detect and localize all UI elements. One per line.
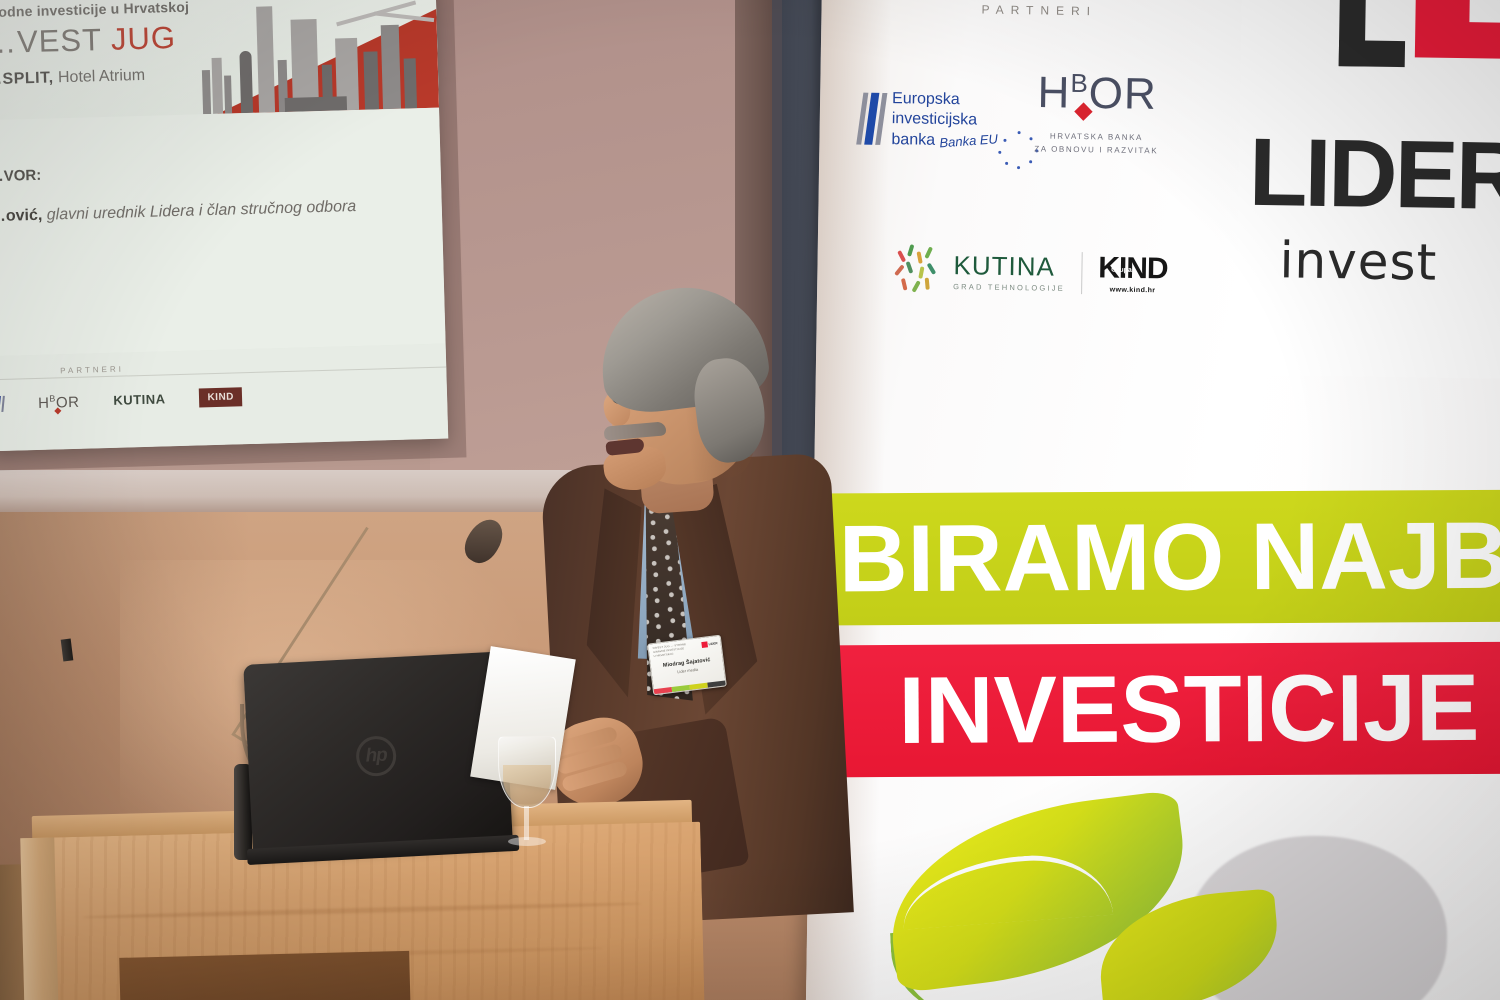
logo-divider — [1081, 252, 1083, 294]
slide-speaker-line: …ović, glavni urednik Lidera i član stru… — [0, 198, 356, 226]
hbor-sub-2: ZA OBNOVU I RAZVITAK — [1034, 143, 1158, 159]
banner-headline-red: INVESTICIJE — [806, 642, 1500, 778]
wine-glass — [498, 736, 556, 850]
kutina-subtitle: GRAD TEHNOLOGIJE — [953, 283, 1065, 292]
slide-partner-logos: HBOR KUTINA KIND — [0, 382, 447, 414]
slide-hbor-icon: HBOR — [38, 392, 80, 411]
slide-title: …VEST JUG — [0, 20, 244, 58]
banner-headline-green: BIRAMO NAJBOLJ — [806, 490, 1500, 626]
glass-water — [503, 765, 551, 805]
eib-line-3-text: banka — [891, 131, 935, 149]
kutina-name: KUTINA — [953, 252, 1065, 280]
hbor-or: OR — [1088, 69, 1157, 119]
photo-canvas: …odne investicije u Hrvatskoj …VEST JUG … — [0, 0, 1500, 1000]
slide-kind-icon: KIND — [199, 387, 242, 407]
projection-screen: …odne investicije u Hrvatskoj …VEST JUG … — [0, 0, 448, 451]
kutina-text: KUTINA GRAD TEHNOLOGIJE — [953, 252, 1065, 292]
slide-speaker-name: …ović, — [0, 207, 43, 225]
hp-logo-icon: hp — [355, 735, 397, 777]
slide-title-area: …odne investicije u Hrvatskoj …VEST JUG … — [0, 0, 245, 88]
hbor-h: H — [1037, 68, 1071, 118]
slide-speaker-role: glavni urednik Lidera i član stručnog od… — [42, 198, 356, 224]
laptop-lid: hp — [243, 651, 513, 854]
eib-line-1: Europska — [892, 89, 998, 111]
kind-inner-text: Grupa — [1111, 267, 1132, 274]
banner-partners-heading: PARTNERI — [981, 3, 1097, 19]
kind-logo: KIND Grupa www.kind.hr — [1098, 253, 1168, 294]
slide-title-right: JUG — [111, 20, 177, 57]
banner-headline-line-1: BIRAMO NAJBOLJ — [806, 507, 1500, 607]
badge-lider-square-icon — [701, 641, 708, 648]
laptop: hp — [243, 651, 513, 854]
wood-grain-line-1 — [82, 901, 642, 920]
slide-location-venue: Hotel Atrium — [53, 67, 145, 87]
kutina-kind-logo-group: KUTINA GRAD TEHNOLOGIJE KIND Grupa www.k… — [895, 244, 1168, 300]
kind-url: www.kind.hr — [1098, 286, 1167, 294]
lider-red-square-icon — [1415, 0, 1500, 59]
eib-line-2: investicijska — [892, 110, 998, 132]
lider-tagline: invest — [1279, 235, 1437, 287]
lectern-inner-shelf — [119, 951, 410, 1000]
eib-bars-icon — [859, 89, 884, 145]
eib-logo: Europska investicijska bankaBanka EU — [859, 89, 998, 153]
slide-header: …odne investicije u Hrvatskoj …VEST JUG … — [0, 0, 439, 120]
slide-kutina-icon: KUTINA — [113, 391, 166, 407]
eib-logo-text: Europska investicijska bankaBanka EU — [891, 89, 998, 152]
badge-lider-logo: LIDER — [701, 639, 718, 648]
slide-footer: PARTNERI HBOR KUTINA KIND — [0, 344, 448, 452]
lectern-left-edge — [20, 837, 58, 1000]
name-badge: INVEST JUG — STRANE IZRAVNE INVESTICIJE … — [647, 635, 727, 696]
microphone-head-icon — [458, 513, 510, 569]
hbor-subtitle: HRVATSKA BANKA ZA OBNOVU I RAZVITAK — [1034, 129, 1158, 158]
glass-bowl — [498, 736, 556, 808]
hbor-b: B — [1070, 68, 1089, 98]
glass-foot — [508, 837, 546, 846]
badge-lider-text: LIDER — [708, 641, 717, 646]
lider-logo-block: LIDER invest — [1236, 0, 1500, 380]
eib-line-3: bankaBanka EU — [891, 130, 997, 152]
slide-eyebrow: …odne investicije u Hrvatskoj — [0, 0, 243, 21]
leaf-graphic — [845, 799, 1469, 1000]
hbor-logo: HBOR HRVATSKA BANKA ZA OBNOVU I RAZVITAK — [1034, 69, 1159, 158]
slide-title-left: …VEST — [0, 22, 102, 60]
badge-event-name: INVEST JUG — STRANE IZRAVNE INVESTICIJE … — [653, 643, 688, 658]
slide-kutina-label: KUTINA — [113, 391, 166, 407]
hbor-wordmark: HBOR — [1035, 69, 1160, 117]
rollup-banner: PARTNERI Europska investicijska bankaBan… — [806, 0, 1500, 1000]
lider-wordmark: LIDER — [1248, 125, 1500, 225]
kind-wordmark: KIND Grupa — [1098, 253, 1168, 284]
slide-eib-icon — [0, 395, 4, 411]
kutina-mark-icon — [895, 244, 944, 297]
kind-name-text: KIND — [1098, 251, 1168, 285]
slide-body: …VOR: …ović, glavni urednik Lidera i čla… — [0, 108, 446, 357]
slide-moderator-label: …VOR: — [0, 167, 41, 185]
banner-headline-line-2: INVESTICIJE — [806, 660, 1480, 759]
slide-partners-label: PARTNERI — [60, 365, 124, 376]
slide-location-city: …SPLIT, — [0, 69, 54, 88]
glass-stem — [524, 806, 529, 840]
